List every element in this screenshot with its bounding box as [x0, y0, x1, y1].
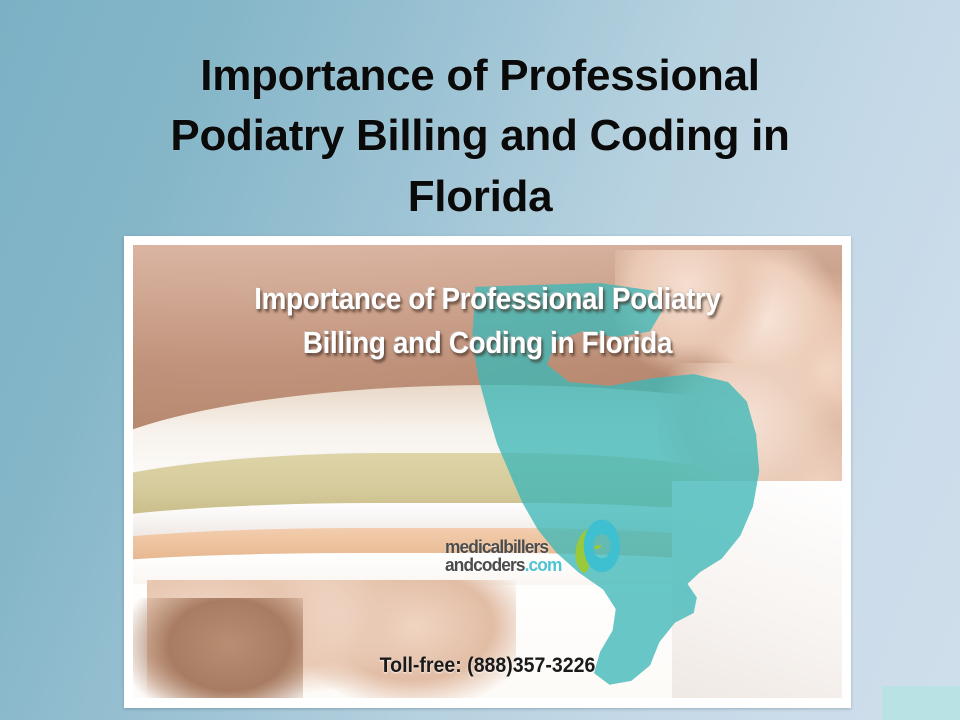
- content-image: Importance of Professional Podiatry Bill…: [133, 245, 842, 698]
- image-headline-line-1: Importance of Professional Podiatry: [168, 277, 806, 321]
- logo-wordmark: medicalbillers andcoders.com: [445, 538, 562, 575]
- logo-wordmark-line-2-text: andcoders: [445, 555, 525, 575]
- corner-accent-rectangle: [882, 686, 960, 720]
- page-title-line-1: Importance of Professional: [0, 46, 960, 106]
- image-headline: Importance of Professional Podiatry Bill…: [168, 277, 806, 365]
- logo-wordmark-line-2: andcoders.com: [445, 556, 562, 574]
- page-title: Importance of Professional Podiatry Bill…: [0, 46, 960, 227]
- brand-logo: medicalbillers andcoders.com: [445, 517, 622, 575]
- photo-hand-shadow: [133, 598, 303, 698]
- image-headline-line-2: Billing and Coding in Florida: [168, 321, 806, 365]
- page-title-line-3: Florida: [0, 167, 960, 227]
- page-title-line-2: Podiatry Billing and Coding in: [0, 106, 960, 166]
- logo-tld: .com: [525, 555, 562, 575]
- logo-wordmark-line-1: medicalbillers: [445, 538, 562, 556]
- logo-mark-icon: [568, 517, 622, 573]
- content-image-frame: Importance of Professional Podiatry Bill…: [124, 236, 851, 708]
- toll-free-text: Toll-free: (888)357-3226: [158, 654, 817, 678]
